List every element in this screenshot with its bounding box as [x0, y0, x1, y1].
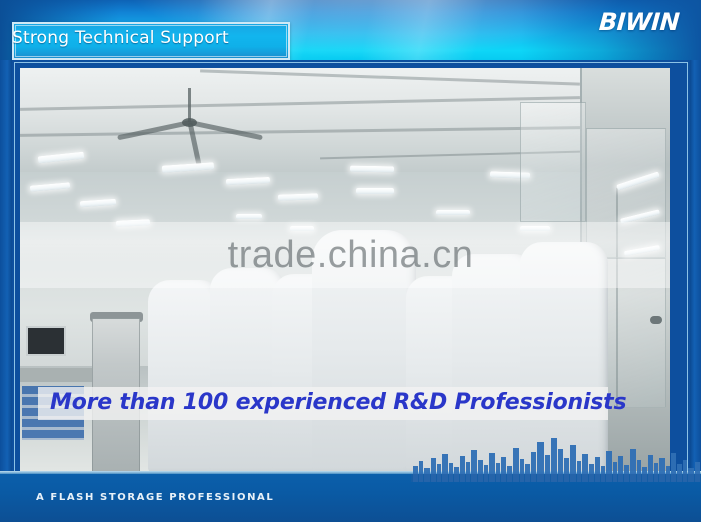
biwin-logo: BIWIN [598, 8, 680, 36]
page-title: Strong Technical Support [12, 28, 282, 48]
photo-frame-left-stripe [0, 60, 12, 474]
glass-panel [520, 102, 586, 222]
computer-monitor [26, 326, 66, 356]
ceiling-fan-rod [188, 88, 191, 122]
slide-root: BIWIN Strong Technical Support [0, 0, 701, 522]
light-tube [436, 210, 470, 215]
glass-panel [586, 128, 666, 258]
light-tube [236, 214, 262, 219]
light-tube [520, 226, 550, 231]
caption-text: More than 100 experienced R&D Profession… [50, 390, 610, 415]
ceiling-fan-hub [182, 118, 197, 127]
footer-tagline: A FLASH STORAGE PROFESSIONAL [36, 492, 274, 503]
photo-frame-right-stripe [690, 60, 701, 474]
door-handle [650, 316, 662, 324]
light-tube [356, 188, 394, 194]
light-tube [290, 226, 314, 231]
light-tube [350, 166, 394, 173]
city-skyline-icon [411, 430, 701, 482]
left-desk [20, 368, 94, 382]
